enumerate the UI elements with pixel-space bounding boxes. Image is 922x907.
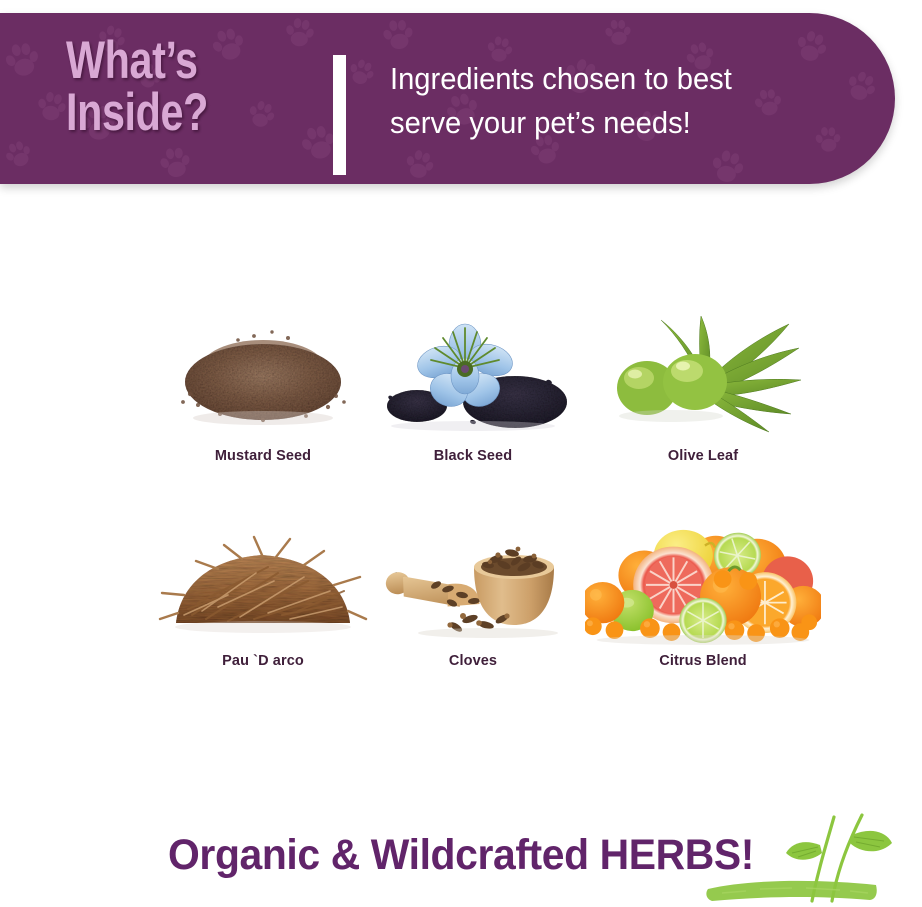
ingredient-label: Pau `D arco: [145, 653, 381, 669]
ingredient-label: Olive Leaf: [585, 448, 821, 464]
ingredient-grid: Mustard Seed: [130, 300, 830, 720]
ingredient-label: Citrus Blend: [585, 653, 821, 669]
banner-subtitle: Ingredients chosen to best serve your pe…: [390, 57, 851, 145]
ingredient-item-mustard-seed: Mustard Seed: [145, 300, 381, 464]
pau-darco-image: [145, 505, 381, 645]
banner-subtitle-line2: serve your pet’s needs!: [390, 101, 851, 145]
cloves-image: [355, 505, 591, 645]
ingredient-item-cloves: Cloves: [355, 505, 591, 669]
citrus-blend-image: [585, 505, 821, 645]
ingredient-item-olive-leaf: Olive Leaf: [585, 300, 821, 464]
footer-headline: Organic & Wildcrafted HERBS!: [23, 831, 899, 880]
banner-title-line2: Inside?: [66, 87, 261, 139]
banner-title: What’s Inside?: [66, 35, 261, 139]
ingredient-row: Mustard Seed: [130, 300, 830, 505]
ingredient-item-citrus-blend: Citrus Blend: [585, 505, 821, 669]
banner-divider: [333, 55, 346, 175]
olive-leaf-image: [585, 300, 821, 440]
ingredient-label: Cloves: [355, 653, 591, 669]
mustard-seed-image: [145, 300, 381, 440]
banner-subtitle-line1: Ingredients chosen to best: [390, 57, 851, 101]
footer: Organic & Wildcrafted HERBS!: [0, 815, 922, 907]
banner-title-line1: What’s: [66, 35, 261, 87]
header-banner: What’s Inside? Ingredients chosen to bes…: [0, 13, 895, 184]
ingredient-label: Black Seed: [355, 448, 591, 464]
black-seed-image: [355, 300, 591, 440]
ingredient-label: Mustard Seed: [145, 448, 381, 464]
ingredient-item-black-seed: Black Seed: [355, 300, 591, 464]
ingredient-item-pau-darco: Pau `D arco: [145, 505, 381, 669]
ingredient-row: Pau `D arco: [130, 505, 830, 710]
